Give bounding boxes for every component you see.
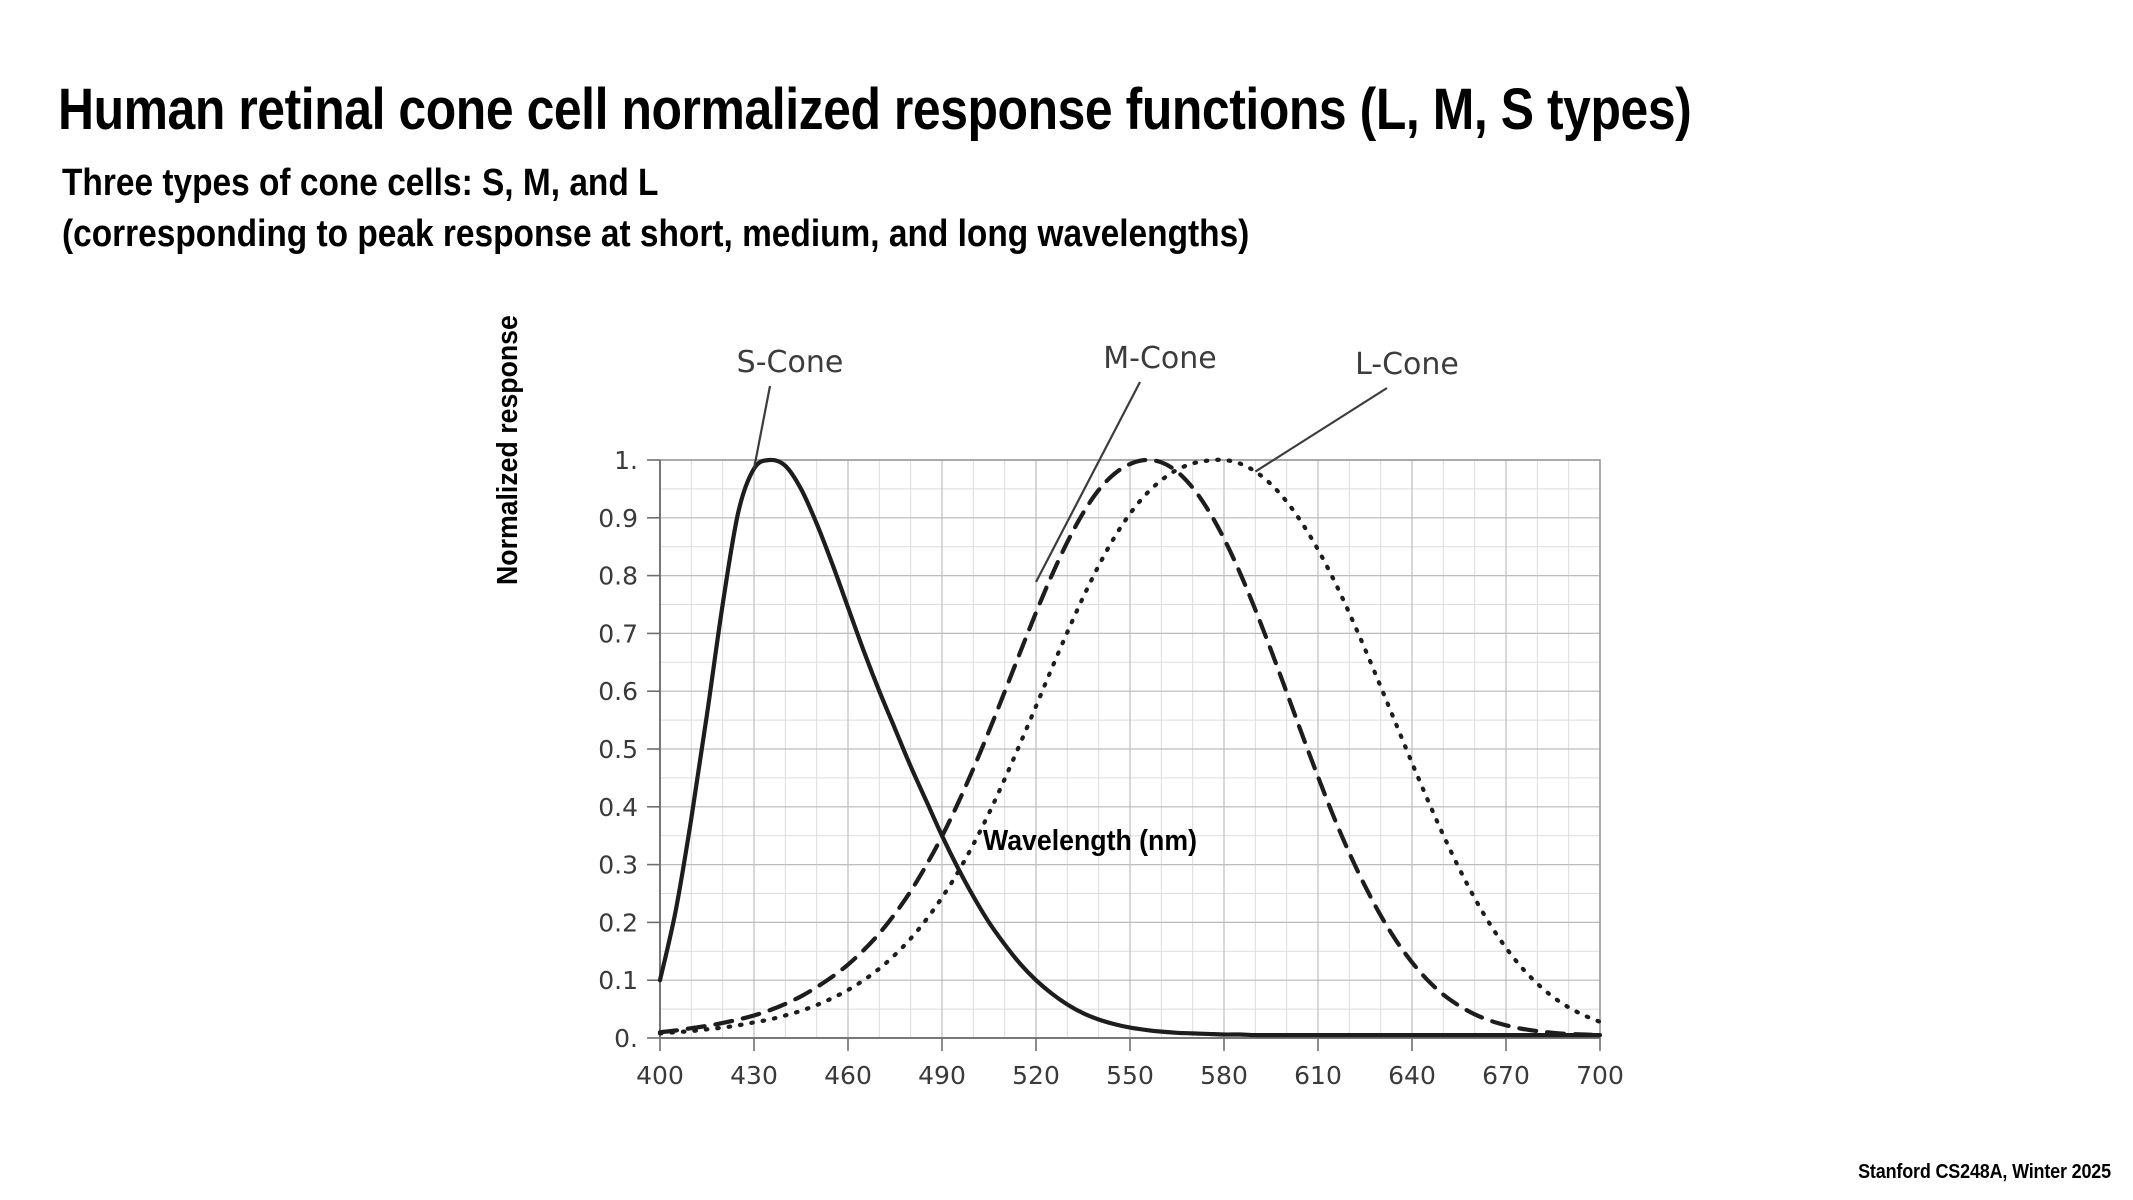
y-tick-label: 0.4 bbox=[598, 793, 638, 822]
x-tick-label: 460 bbox=[824, 1061, 872, 1090]
x-tick-label: 580 bbox=[1200, 1061, 1248, 1090]
series-label-m-cone: M-Cone bbox=[1103, 341, 1216, 376]
chart-series-annotations: S-ConeM-ConeL-Cone bbox=[737, 341, 1459, 582]
y-tick-label: 0.5 bbox=[598, 735, 638, 764]
footer-credit: Stanford CS248A, Winter 2025 bbox=[1858, 1161, 2111, 1184]
page-title: Human retinal cone cell normalized respo… bbox=[58, 81, 1691, 139]
y-tick-label: 0.7 bbox=[598, 619, 638, 648]
x-tick-label: 430 bbox=[730, 1061, 778, 1090]
x-tick-label: 670 bbox=[1482, 1061, 1530, 1090]
y-tick-label: 0.8 bbox=[598, 562, 638, 591]
y-tick-label: 0.2 bbox=[598, 908, 638, 937]
x-tick-label: 550 bbox=[1106, 1061, 1154, 1090]
chart-tick-labels: 4004304604905205505806106406707000.0.10.… bbox=[598, 446, 1624, 1090]
subtitle-line-1: Three types of cone cells: S, M, and L bbox=[62, 158, 1249, 209]
leader-line-s-cone bbox=[754, 386, 770, 469]
y-tick-label: 1. bbox=[614, 446, 638, 475]
y-tick-label: 0.6 bbox=[598, 677, 638, 706]
y-tick-label: 0. bbox=[614, 1024, 638, 1053]
y-tick-label: 0.1 bbox=[598, 966, 638, 995]
cone-response-chart: 4004304604905205505806106406707000.0.10.… bbox=[500, 330, 1680, 890]
series-label-s-cone: S-Cone bbox=[737, 345, 844, 380]
subtitle-line-2: (corresponding to peak response at short… bbox=[62, 209, 1249, 260]
x-tick-label: 520 bbox=[1012, 1061, 1060, 1090]
series-label-l-cone: L-Cone bbox=[1355, 347, 1459, 382]
y-tick-label: 0.9 bbox=[598, 504, 638, 533]
leader-line-m-cone bbox=[1036, 382, 1140, 582]
subtitle-block: Three types of cone cells: S, M, and L (… bbox=[62, 158, 1249, 261]
x-tick-label: 640 bbox=[1388, 1061, 1436, 1090]
x-tick-label: 700 bbox=[1576, 1061, 1624, 1090]
cone-response-figure: 4004304604905205505806106406707000.0.10.… bbox=[500, 330, 1680, 870]
leader-line-l-cone bbox=[1255, 388, 1387, 472]
x-axis-label: Wavelength (nm) bbox=[547, 825, 1633, 858]
chart-ticks bbox=[647, 460, 1600, 1051]
x-tick-label: 400 bbox=[636, 1061, 684, 1090]
x-tick-label: 610 bbox=[1294, 1061, 1342, 1090]
y-axis-label: Normalized response bbox=[492, 315, 525, 585]
x-tick-label: 490 bbox=[918, 1061, 966, 1090]
